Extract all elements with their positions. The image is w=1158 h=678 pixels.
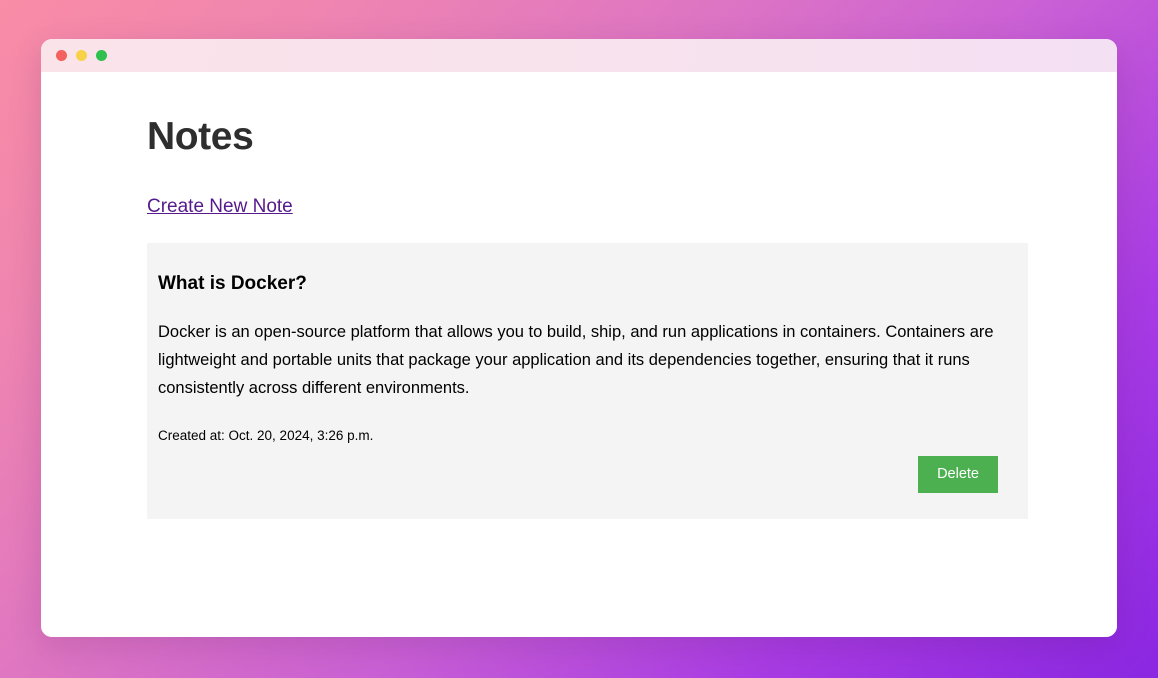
create-new-note-link[interactable]: Create New Note: [147, 196, 293, 218]
window-titlebar: [41, 39, 1117, 72]
maximize-window-button[interactable]: [96, 50, 107, 61]
delete-note-button[interactable]: Delete: [918, 456, 998, 493]
note-title: What is Docker?: [158, 273, 998, 295]
close-window-button[interactable]: [56, 50, 67, 61]
page-title: Notes: [147, 116, 1117, 159]
minimize-window-button[interactable]: [76, 50, 87, 61]
page-content: Notes Create New Note What is Docker? Do…: [41, 72, 1117, 637]
note-created-timestamp: Created at: Oct. 20, 2024, 3:26 p.m.: [158, 428, 998, 443]
note-card: What is Docker? Docker is an open-source…: [147, 243, 1028, 519]
note-actions: Delete: [158, 456, 998, 493]
browser-window: Notes Create New Note What is Docker? Do…: [41, 39, 1117, 637]
note-body: Docker is an open-source platform that a…: [158, 318, 998, 402]
